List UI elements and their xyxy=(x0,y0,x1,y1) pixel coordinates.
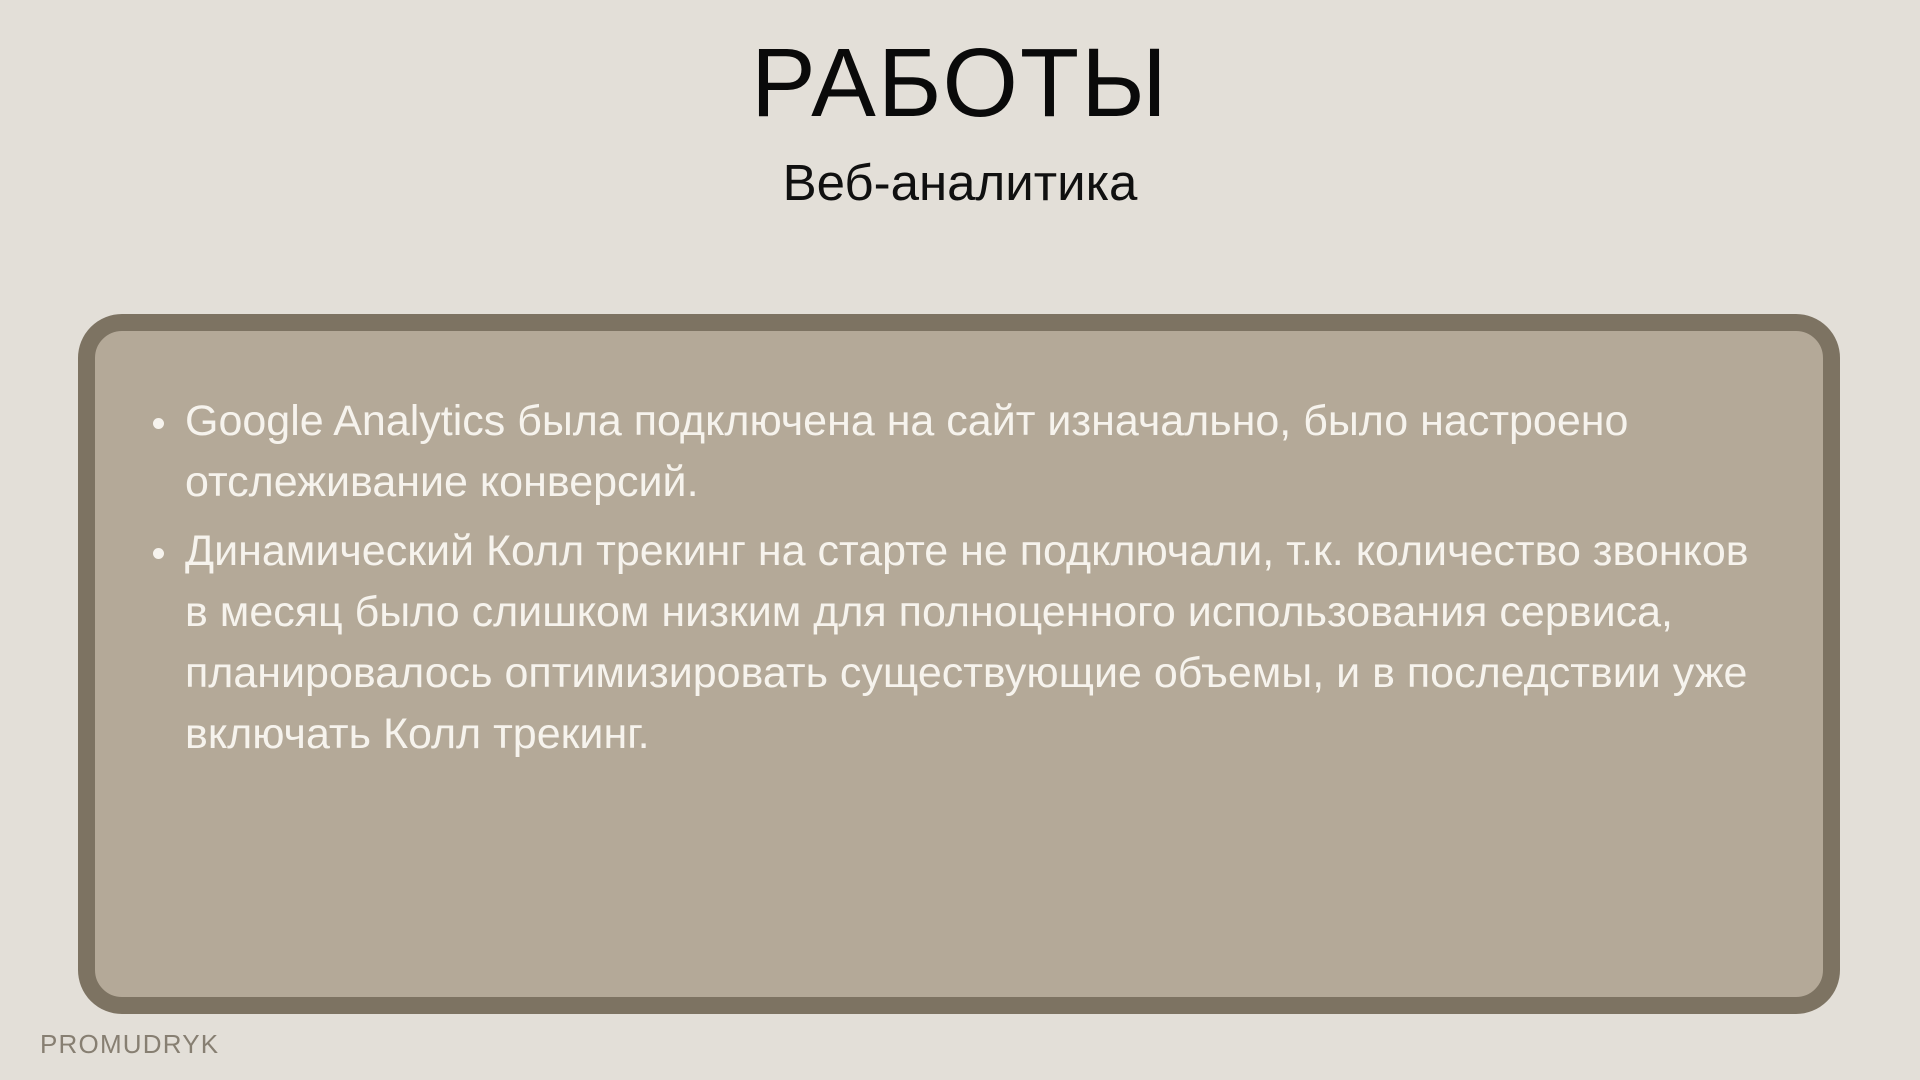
list-item: Google Analytics была подключена на сайт… xyxy=(143,391,1765,513)
content-card: Google Analytics была подключена на сайт… xyxy=(78,314,1840,1014)
footer-brand: PROMUDRYK xyxy=(40,1029,219,1060)
page-title: РАБОТЫ xyxy=(0,0,1920,131)
bullet-list: Google Analytics была подключена на сайт… xyxy=(143,391,1765,765)
list-item: Динамический Колл трекинг на старте не п… xyxy=(143,521,1765,765)
slide-header: РАБОТЫ Веб-аналитика xyxy=(0,0,1920,208)
presentation-slide: РАБОТЫ Веб-аналитика Google Analytics бы… xyxy=(0,0,1920,1080)
page-subtitle: Веб-аналитика xyxy=(0,131,1920,208)
card-inner: Google Analytics была подключена на сайт… xyxy=(95,331,1823,997)
